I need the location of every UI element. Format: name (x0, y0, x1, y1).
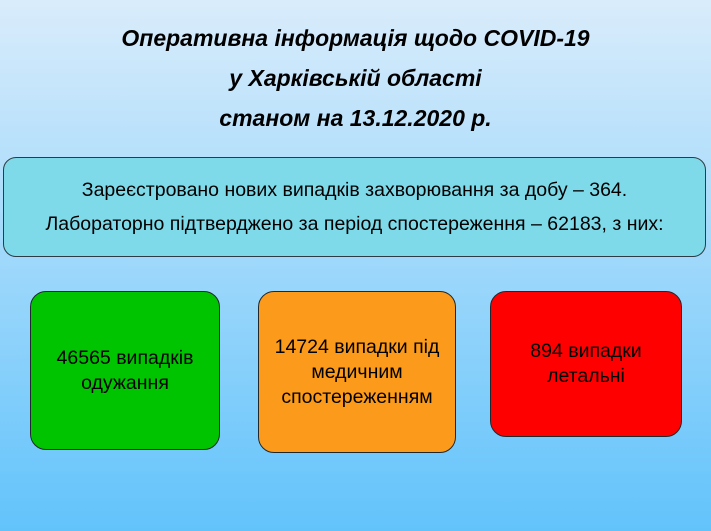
title-line-3: станом на 13.12.2020 р. (0, 98, 711, 138)
info-line-new-cases: Зареєстровано нових випадків захворюванн… (82, 173, 627, 207)
stat-box-fatal-text: 894 випадки летальні (491, 339, 681, 389)
info-line-total-confirmed: Лабораторно підтверджено за період спост… (45, 207, 663, 241)
info-panel: Зареєстровано нових випадків захворюванн… (3, 157, 706, 257)
title-line-1: Оперативна інформація щодо COVID-19 (0, 18, 711, 58)
title-block: Оперативна інформація щодо COVID-19 у Ха… (0, 18, 711, 138)
slide-canvas: Оперативна інформація щодо COVID-19 у Ха… (0, 0, 711, 531)
title-line-2: у Харківській області (0, 58, 711, 98)
stat-box-observation: 14724 випадки під медичним спостереження… (258, 291, 456, 453)
stat-box-observation-text: 14724 випадки під медичним спостереження… (259, 335, 455, 410)
stat-box-recovered: 46565 випадків одужання (30, 291, 220, 450)
stat-box-recovered-text: 46565 випадків одужання (31, 346, 219, 396)
stat-box-fatal: 894 випадки летальні (490, 291, 682, 437)
